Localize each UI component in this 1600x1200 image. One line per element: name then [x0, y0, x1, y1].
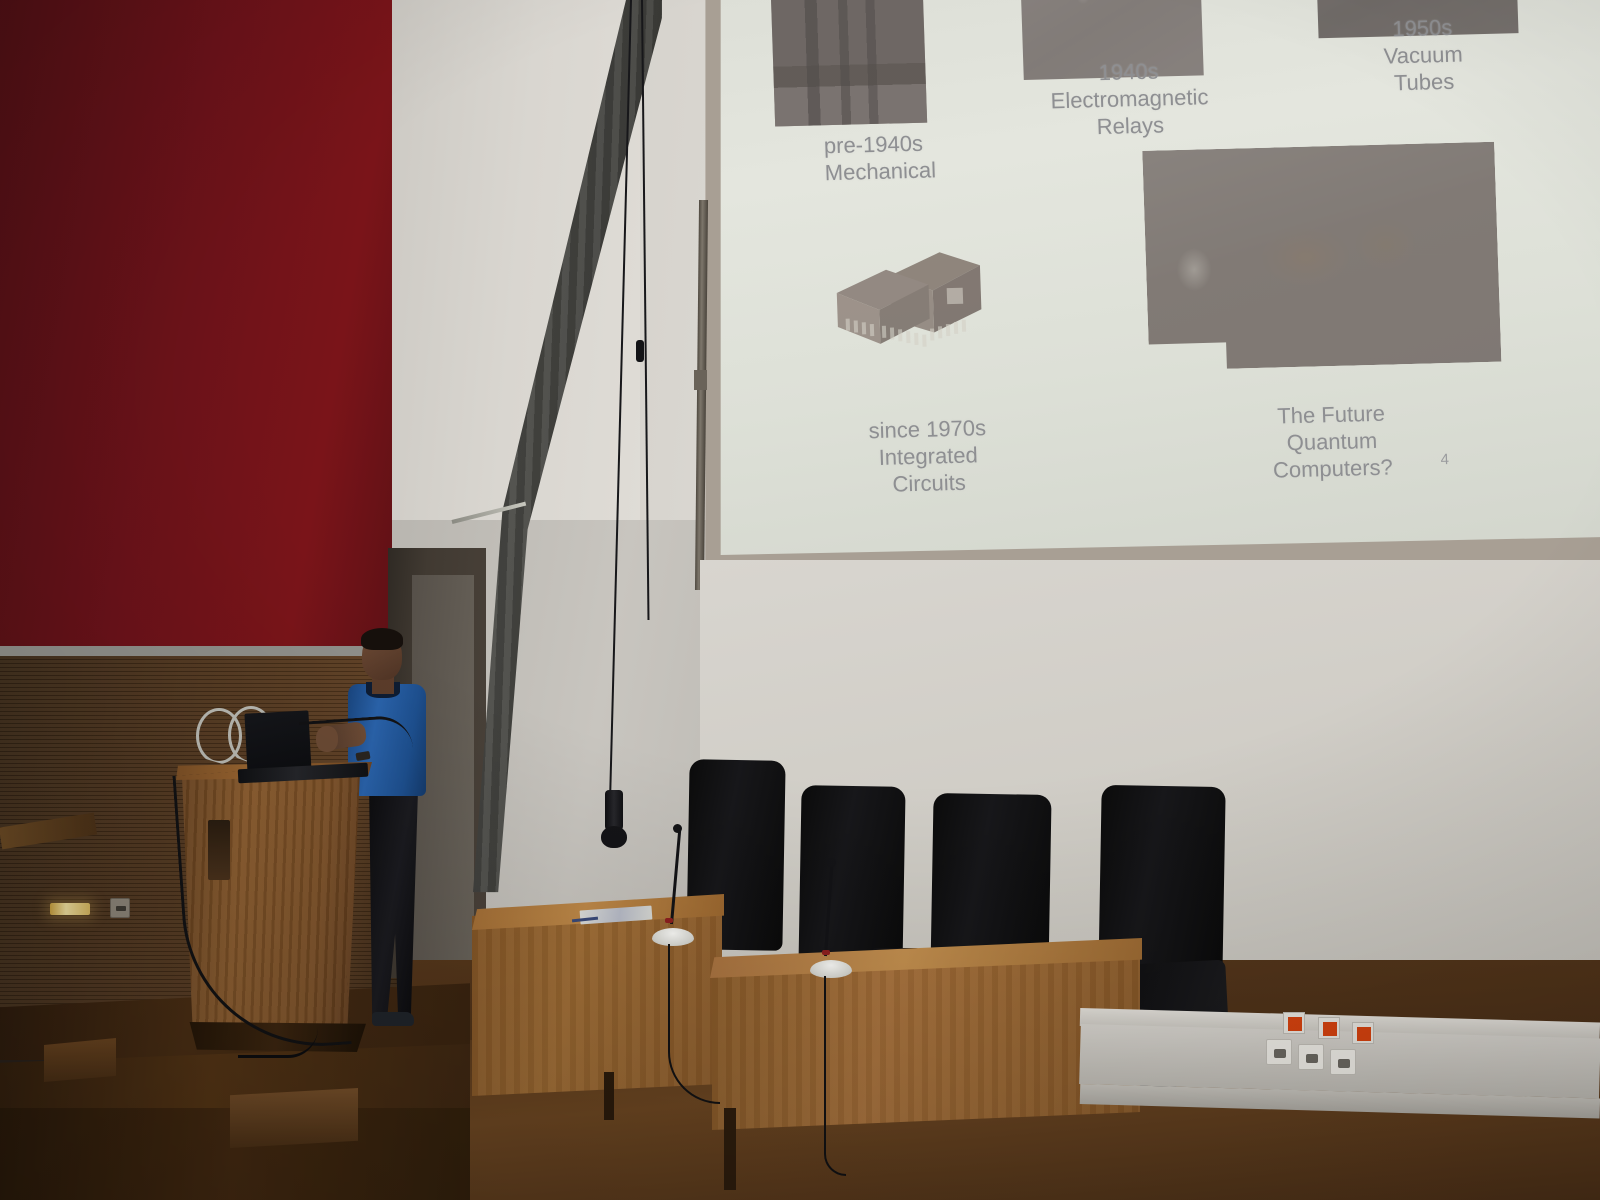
- slide-image-integrated-circuits: [827, 231, 991, 355]
- slide-caption-integrated-circuits: since 1970s Integrated Circuits: [861, 415, 996, 499]
- slide-image-mechanical: [769, 0, 927, 127]
- caption-line: Integrated: [862, 442, 995, 472]
- slide-caption-mechanical: pre-1940s Mechanical: [823, 130, 936, 187]
- lecture-hall-photo: pre-1940s Mechanical 1940s Electromagnet…: [0, 0, 1600, 1200]
- conference-table-right: [712, 950, 1140, 1130]
- presenter-shoe: [372, 1012, 414, 1026]
- table-leg: [604, 1072, 614, 1120]
- curtain-cord-weight[interactable]: [605, 790, 623, 832]
- data-jack-icon[interactable]: [1318, 1017, 1340, 1039]
- caption-line: Quantum: [1252, 427, 1413, 458]
- caption-line: Electromagnetic: [1044, 84, 1215, 115]
- mic-cable: [668, 944, 720, 1104]
- presenter-hair: [361, 628, 403, 650]
- caption-line: since 1970s: [861, 415, 994, 445]
- screen-rail-clip: [694, 370, 707, 390]
- mic-indicator-ring: [665, 918, 673, 923]
- wall-light-fixture: [50, 903, 90, 915]
- slide-caption-vacuum-tubes: 1950s Vacuum Tubes: [1352, 14, 1495, 98]
- table-leg: [724, 1108, 736, 1190]
- slide-number: 4: [1440, 451, 1449, 468]
- caption-line: Computers?: [1252, 454, 1413, 485]
- data-jack-icon[interactable]: [1352, 1022, 1374, 1044]
- step-riser: [230, 1088, 358, 1148]
- ic-chip-icon: [827, 231, 991, 355]
- caption-line: Vacuum: [1353, 41, 1494, 71]
- mic-capsule: [673, 824, 682, 833]
- power-outlet-icon[interactable]: [1330, 1049, 1356, 1075]
- presentation-slide: pre-1940s Mechanical 1940s Electromagnet…: [718, 0, 1600, 570]
- caption-line: 1950s: [1352, 14, 1493, 44]
- mic-indicator-ring: [822, 950, 830, 955]
- mic-cable: [824, 976, 846, 1176]
- power-outlet-icon[interactable]: [1266, 1039, 1292, 1065]
- caption-line: The Future: [1251, 400, 1412, 431]
- red-wall-panel: [0, 0, 400, 652]
- caption-line: pre-1940s: [823, 130, 935, 160]
- caption-line: Circuits: [863, 469, 996, 499]
- slide-caption-relays: 1940s Electromagnetic Relays: [1043, 57, 1216, 142]
- projection-screen: pre-1940s Mechanical 1940s Electromagnet…: [718, 0, 1600, 570]
- slide-image-quantum-computer: [1142, 142, 1501, 371]
- caption-line: Tubes: [1354, 67, 1495, 97]
- chair-backrest[interactable]: [798, 785, 905, 971]
- data-jack-icon[interactable]: [1283, 1012, 1305, 1034]
- step-riser: [44, 1038, 116, 1082]
- wall-socket-icon[interactable]: [110, 898, 130, 918]
- power-outlet-icon[interactable]: [1298, 1044, 1324, 1070]
- caption-line: Relays: [1045, 111, 1216, 142]
- slide-caption-quantum: The Future Quantum Computers?: [1251, 400, 1414, 485]
- mic-capsule: [827, 858, 836, 867]
- caption-line: Mechanical: [824, 157, 936, 187]
- cord-knot: [636, 340, 644, 362]
